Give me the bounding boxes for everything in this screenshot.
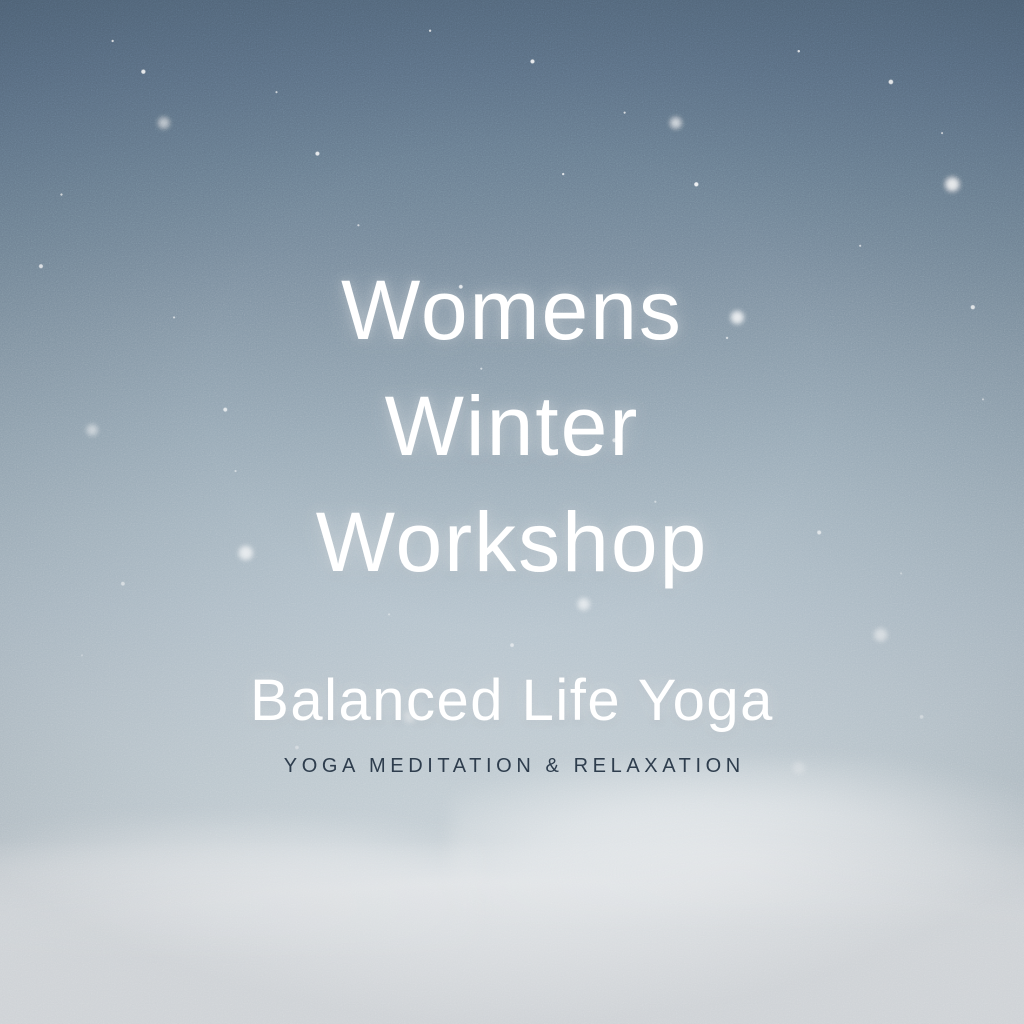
poster-canvas: Womens Winter Workshop Balanced Life Yog… [0, 0, 1024, 1024]
headline-line-1: Womens [0, 252, 1024, 368]
brand-name: Balanced Life Yoga [0, 666, 1024, 736]
poster-headline: Womens Winter Workshop [0, 252, 1024, 600]
headline-line-3: Workshop [0, 484, 1024, 600]
brand-tagline: YOGA MEDITATION & RELAXATION [0, 752, 1024, 780]
headline-line-2: Winter [0, 368, 1024, 484]
poster-content: Womens Winter Workshop Balanced Life Yog… [0, 0, 1024, 1024]
